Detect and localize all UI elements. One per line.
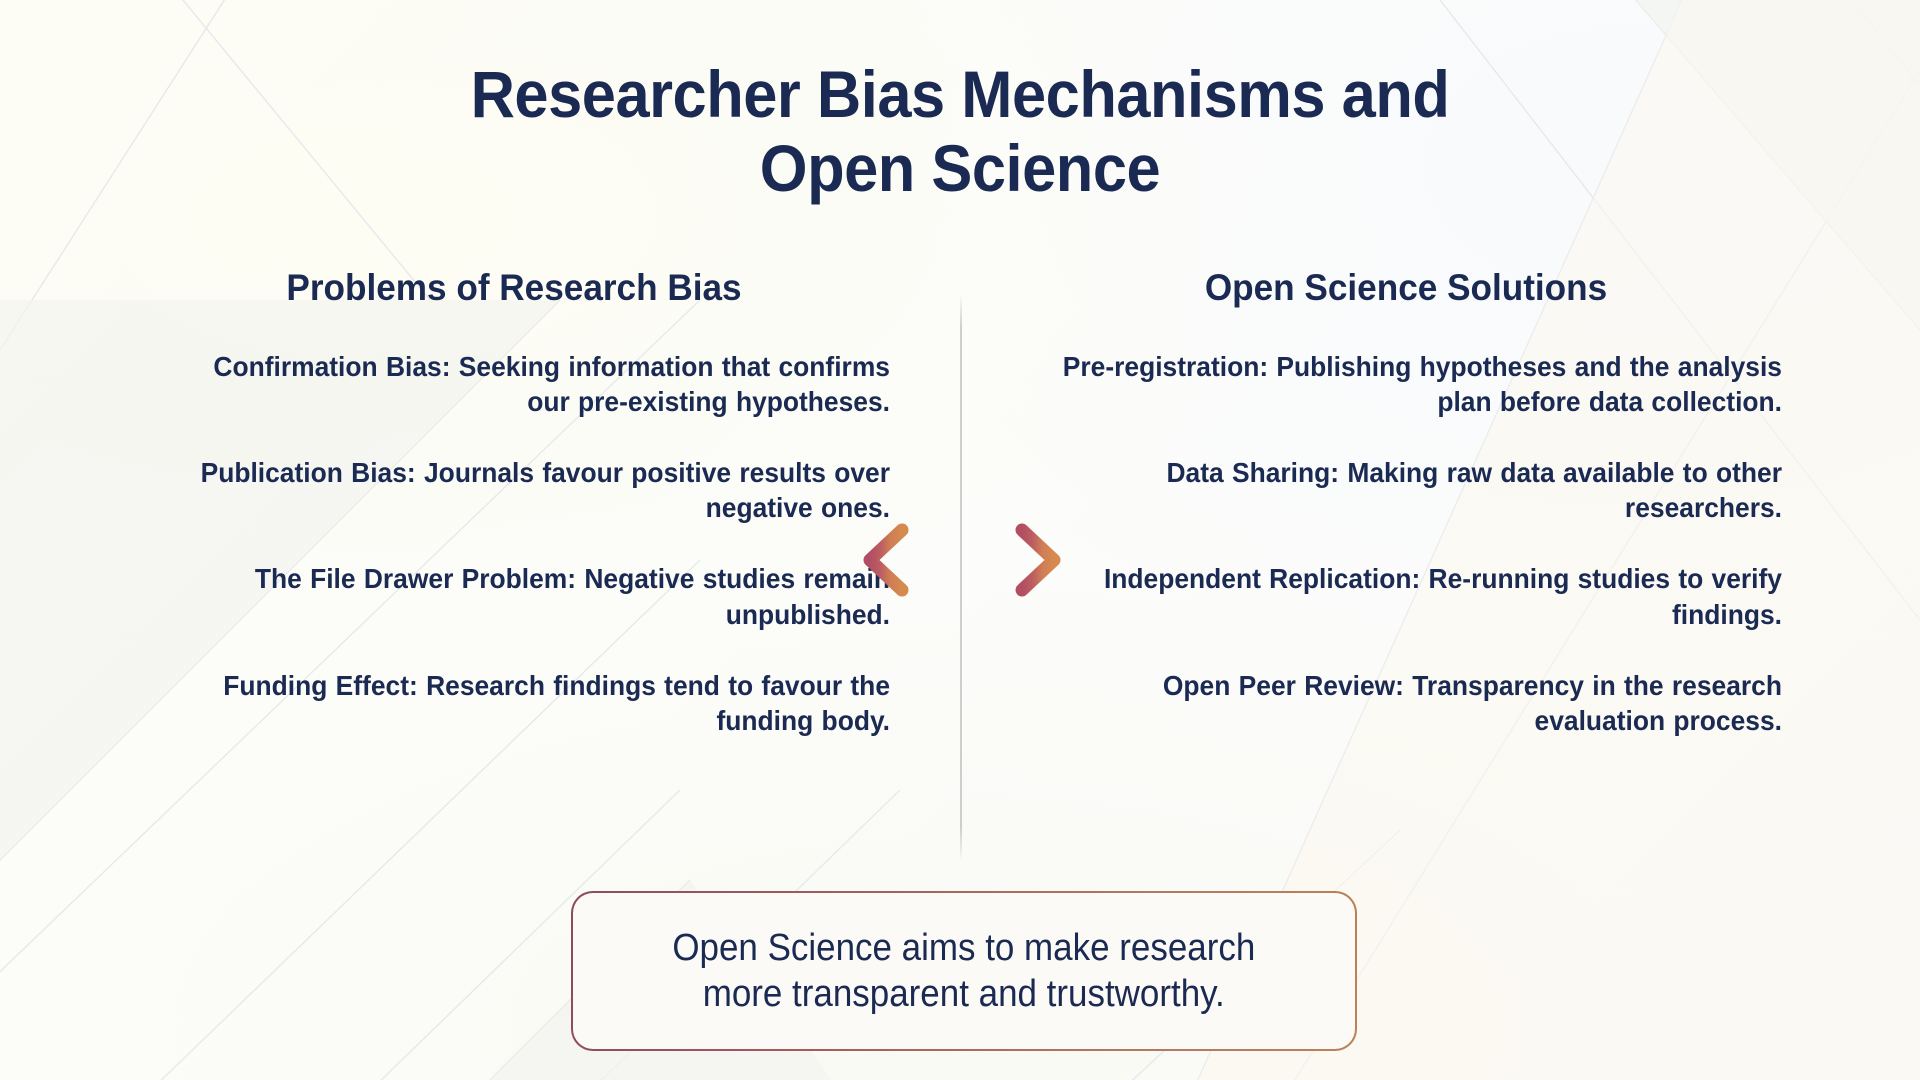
double-headed-arrow-icon: [858, 521, 1066, 599]
title-line-1: Researcher Bias Mechanisms and: [67, 58, 1853, 132]
slide-canvas: Researcher Bias Mechanisms and Open Scie…: [0, 0, 1920, 1080]
right-column: Open Science Solutions Pre-registration:…: [1030, 268, 1782, 738]
left-item-publication-bias: Publication Bias: Journals favour positi…: [168, 455, 890, 525]
title-line-2: Open Science: [67, 132, 1853, 206]
slide-title: Researcher Bias Mechanisms and Open Scie…: [0, 58, 1920, 206]
right-item-data-sharing: Data Sharing: Making raw data available …: [1060, 455, 1782, 525]
left-column-heading: Problems of Research Bias: [157, 268, 871, 309]
summary-line-2: more transparent and trustworthy.: [703, 971, 1225, 1017]
left-item-funding-effect: Funding Effect: Research findings tend t…: [168, 668, 890, 738]
left-item-file-drawer-problem: The File Drawer Problem: Negative studie…: [168, 561, 890, 631]
right-item-independent-replication: Independent Replication: Re-running stud…: [1060, 561, 1782, 631]
summary-callout-inner: Open Science aims to make research more …: [573, 893, 1355, 1049]
right-item-pre-registration: Pre-registration: Publishing hypotheses …: [1060, 349, 1782, 419]
summary-line-1: Open Science aims to make research: [673, 925, 1256, 971]
summary-callout: Open Science aims to make research more …: [571, 891, 1357, 1051]
right-column-heading: Open Science Solutions: [1049, 268, 1763, 309]
left-column: Problems of Research Bias Confirmation B…: [138, 268, 890, 738]
left-item-confirmation-bias: Confirmation Bias: Seeking information t…: [168, 349, 890, 419]
right-item-open-peer-review: Open Peer Review: Transparency in the re…: [1060, 668, 1782, 738]
